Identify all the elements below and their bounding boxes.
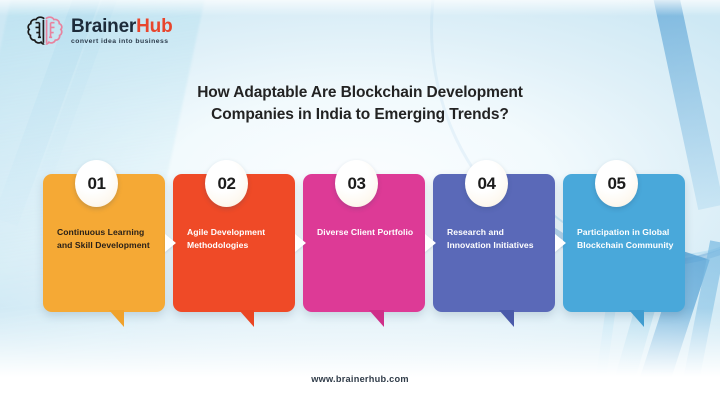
step-card-5-text: Participation in Global Blockchain Commu… <box>577 226 677 253</box>
step-card-1-tail <box>109 310 124 327</box>
arrow-right-icon-1 <box>165 234 176 252</box>
step-card-3-tail <box>369 310 384 327</box>
brand-logo[interactable]: BrainerHub convert idea into business <box>26 14 172 48</box>
step-card-2[interactable]: Agile Development Methodologies 02 <box>173 174 295 324</box>
step-card-2-text: Agile Development Methodologies <box>187 226 287 253</box>
step-card-5-tail <box>629 310 644 327</box>
infographic-canvas: BrainerHub convert idea into business Ho… <box>0 0 720 404</box>
step-card-5[interactable]: Participation in Global Blockchain Commu… <box>563 174 685 324</box>
page-title-line-2: Companies in India to Emerging Trends? <box>0 104 720 126</box>
step-card-3[interactable]: Diverse Client Portfolio 03 <box>303 174 425 324</box>
step-card-1-number-badge: 01 <box>75 160 118 207</box>
step-card-5-number-badge: 05 <box>595 160 638 207</box>
steps-row: Continuous Learning and Skill Developmen… <box>43 174 677 324</box>
brain-icon <box>26 14 64 48</box>
arrow-right-icon-4 <box>555 234 566 252</box>
page-title-line-1: How Adaptable Are Blockchain Development <box>0 82 720 104</box>
step-card-3-number-badge: 03 <box>335 160 378 207</box>
brand-tagline: convert idea into business <box>71 39 172 46</box>
step-card-1-text: Continuous Learning and Skill Developmen… <box>57 226 157 253</box>
footer-website[interactable]: www.brainerhub.com <box>0 374 720 384</box>
step-card-4-text: Research and Innovation Initiatives <box>447 226 547 253</box>
page-title: How Adaptable Are Blockchain Development… <box>0 82 720 127</box>
step-card-1[interactable]: Continuous Learning and Skill Developmen… <box>43 174 165 324</box>
brand-name-primary: Brainer <box>71 16 136 37</box>
step-card-3-text: Diverse Client Portfolio <box>317 226 417 239</box>
step-card-2-number-badge: 02 <box>205 160 248 207</box>
step-card-4-number-badge: 04 <box>465 160 508 207</box>
step-card-4-tail <box>499 310 514 327</box>
brand-name: BrainerHub <box>71 17 172 36</box>
brand-logo-text: BrainerHub convert idea into business <box>71 17 172 46</box>
arrow-right-icon-3 <box>425 234 436 252</box>
arrow-right-icon-2 <box>295 234 306 252</box>
step-card-4[interactable]: Research and Innovation Initiatives 04 <box>433 174 555 324</box>
brand-name-secondary: Hub <box>136 16 172 37</box>
step-card-2-tail <box>239 310 254 327</box>
